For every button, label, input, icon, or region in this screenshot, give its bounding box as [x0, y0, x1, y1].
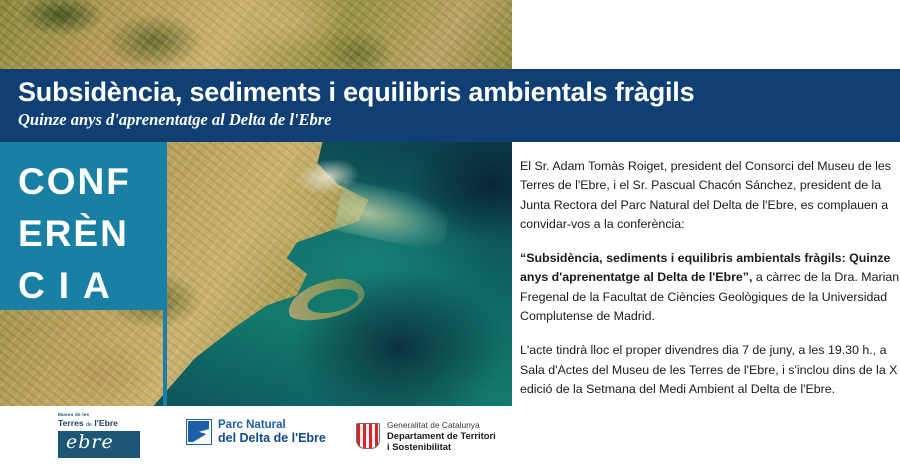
- logo-parc-line-1: Parc Natural: [218, 419, 326, 431]
- paragraph-invitation: El Sr. Adam Tomàs Roiget, president del …: [520, 157, 900, 234]
- logo-parc-line-2: del Delta de l'Ebre: [218, 431, 326, 445]
- logo-museu-main-line: Terres de l'Ebre: [58, 418, 154, 430]
- paragraph-event-details: L'acte tindrà lloc el proper divendres d…: [520, 341, 900, 399]
- text-line-mixed: anys d'aprenentatge al Delta de l'Ebre”,…: [520, 268, 900, 287]
- conference-poster: Subsidència, sediments i equilibris ambi…: [0, 0, 900, 470]
- text-line-bold: “Subsidència, sediments i equilibris amb…: [520, 249, 900, 268]
- bird-glyph: [188, 421, 209, 442]
- text-line: Sala d'Actes del Museu de les Terres de …: [520, 361, 900, 380]
- text-line: Junta Rectora del Parc Natural del Delta…: [520, 196, 900, 215]
- logo-generalitat-line-3: i Sostenibilitat: [387, 441, 496, 452]
- logo-museu-word-terres: Terres: [58, 418, 84, 428]
- terrain-texture: [0, 0, 512, 69]
- logo-museu-script-text: ebre: [66, 430, 114, 455]
- conference-label-line-1: CONF: [18, 156, 165, 208]
- conference-label-block: CONF ERÈN CIA: [0, 142, 165, 310]
- body-copy: El Sr. Adam Tomàs Roiget, president del …: [520, 157, 900, 434]
- text-line: L'acte tindrà lloc el proper divendres d…: [520, 341, 900, 360]
- logo-parc-text: Parc Natural del Delta de l'Ebre: [218, 419, 326, 445]
- page-title: Subsidència, sediments i equilibris ambi…: [18, 75, 900, 109]
- conference-label-line-2: ERÈN: [18, 208, 165, 260]
- satellite-image-top-strip: [0, 0, 512, 69]
- logo-museu-mark: ebre: [58, 431, 140, 458]
- text-line: El Sr. Adam Tomàs Roiget, president del …: [520, 157, 900, 176]
- title-banner: Subsidència, sediments i equilibris ambi…: [0, 69, 900, 142]
- text-line: Complutense de Madrid.: [520, 307, 900, 326]
- text-line: Fregenal de la Facultat de Ciències Geol…: [520, 288, 900, 307]
- text-plain-fragment: a càrrec de la Dra. Marian: [752, 270, 899, 284]
- text-line: Terres de l'Ebre, i el Sr. Pascual Chacó…: [520, 176, 900, 195]
- conference-label-line-3: CIA: [18, 260, 165, 312]
- logo-museu-terres-ebre: Museu de les Terres de l'Ebre ebre: [58, 412, 154, 458]
- logo-parc-natural-delta-ebre: Parc Natural del Delta de l'Ebre: [186, 419, 326, 445]
- paragraph-lecture-title: “Subsidència, sediments i equilibris amb…: [520, 249, 900, 326]
- logo-generalitat-line-2: Departament de Territori: [387, 430, 496, 441]
- logo-museu-word-ebre: l'Ebre: [94, 418, 118, 428]
- text-line: convidar-vos a la conferència:: [520, 215, 900, 234]
- text-line: edició de la Setmana del Medi Ambient al…: [520, 380, 900, 399]
- page-subtitle: Quinze anys d'aprenentatge al Delta de l…: [18, 109, 900, 131]
- text-bold-fragment: anys d'aprenentatge al Delta de l'Ebre”,: [520, 270, 752, 284]
- logo-generalitat-line-1: Generalitat de Catalunya: [387, 420, 496, 430]
- logo-generalitat-text: Generalitat de Catalunya Departament de …: [387, 420, 496, 452]
- logo-museu-word-de: de: [86, 422, 92, 428]
- bird-icon: [186, 419, 212, 445]
- senyera-shield-icon: [356, 423, 380, 449]
- logo-generalitat-catalunya: Generalitat de Catalunya Departament de …: [356, 420, 496, 452]
